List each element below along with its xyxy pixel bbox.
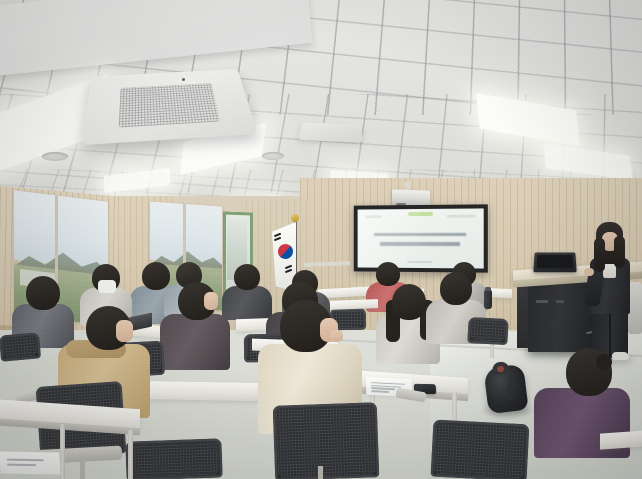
face-mask: [98, 280, 116, 293]
desk: [330, 299, 378, 310]
desk-leg: [60, 424, 65, 479]
attendee-head: [26, 276, 60, 310]
chair-mesh: [470, 320, 505, 342]
attendee-face: [116, 320, 133, 342]
drink-bottle: [484, 290, 492, 309]
attendee-body: [222, 286, 272, 320]
attendee-hand: [330, 330, 343, 342]
attendee-head: [376, 262, 400, 286]
chair-mesh: [2, 336, 38, 359]
task-chair: [273, 402, 380, 479]
presenter-hand: [584, 268, 594, 276]
presenter-hair-strand: [614, 236, 625, 268]
slide-header-left: [365, 216, 382, 219]
attendee-head: [392, 284, 426, 320]
ac-sensor-dot: [182, 78, 185, 81]
flag-finial-icon: [291, 214, 299, 222]
task-chair: [431, 420, 530, 479]
side-chair: [628, 282, 642, 334]
lectern-monitor-screen: [537, 255, 574, 268]
chair-leg: [80, 456, 85, 479]
seminar-room-photo: Attendees seated at desks facing a proje…: [0, 0, 642, 479]
chair-mesh: [128, 441, 219, 477]
slide-title-line-1: [373, 233, 466, 237]
projected-slide: [358, 208, 484, 268]
paper-text-line: [7, 464, 36, 466]
desk: [600, 430, 642, 449]
slide-footer: [407, 261, 432, 264]
lectern-control-button[interactable]: [536, 300, 548, 303]
backpack-logo: [497, 366, 504, 372]
paper-text-line: [371, 390, 389, 392]
presenter-leg-seam: [609, 312, 611, 356]
slide-title-line-2: [380, 242, 461, 246]
handout-paper: [0, 451, 61, 474]
bottle-cap: [485, 287, 491, 291]
task-chair: [467, 317, 508, 345]
attendee-hair-tie: [596, 354, 612, 370]
slide-accent-bar: [408, 212, 433, 216]
paper-text-line: [7, 459, 44, 461]
slide-header-right: [447, 215, 475, 218]
desk-leg: [128, 430, 133, 479]
attendee-head: [142, 262, 170, 290]
desk: [134, 381, 262, 401]
chair-mesh: [276, 405, 376, 477]
chair-mesh: [434, 423, 527, 479]
ceiling-vent-icon: [262, 152, 284, 160]
attendee-head: [440, 272, 472, 305]
lectern-control-button[interactable]: [556, 300, 564, 303]
ceiling-vent-icon: [42, 152, 68, 161]
presenter-shoe: [612, 352, 629, 360]
chair-leg: [318, 466, 323, 479]
presenter-hair-strand: [594, 238, 605, 272]
attendee-head: [234, 264, 260, 290]
ceiling-air-conditioner: [82, 69, 258, 145]
attendee-body: [160, 314, 230, 370]
ceiling-air-outlet: [298, 122, 362, 142]
task-chair: [0, 332, 41, 361]
attendee-face: [204, 292, 218, 310]
task-chair: [125, 438, 222, 479]
